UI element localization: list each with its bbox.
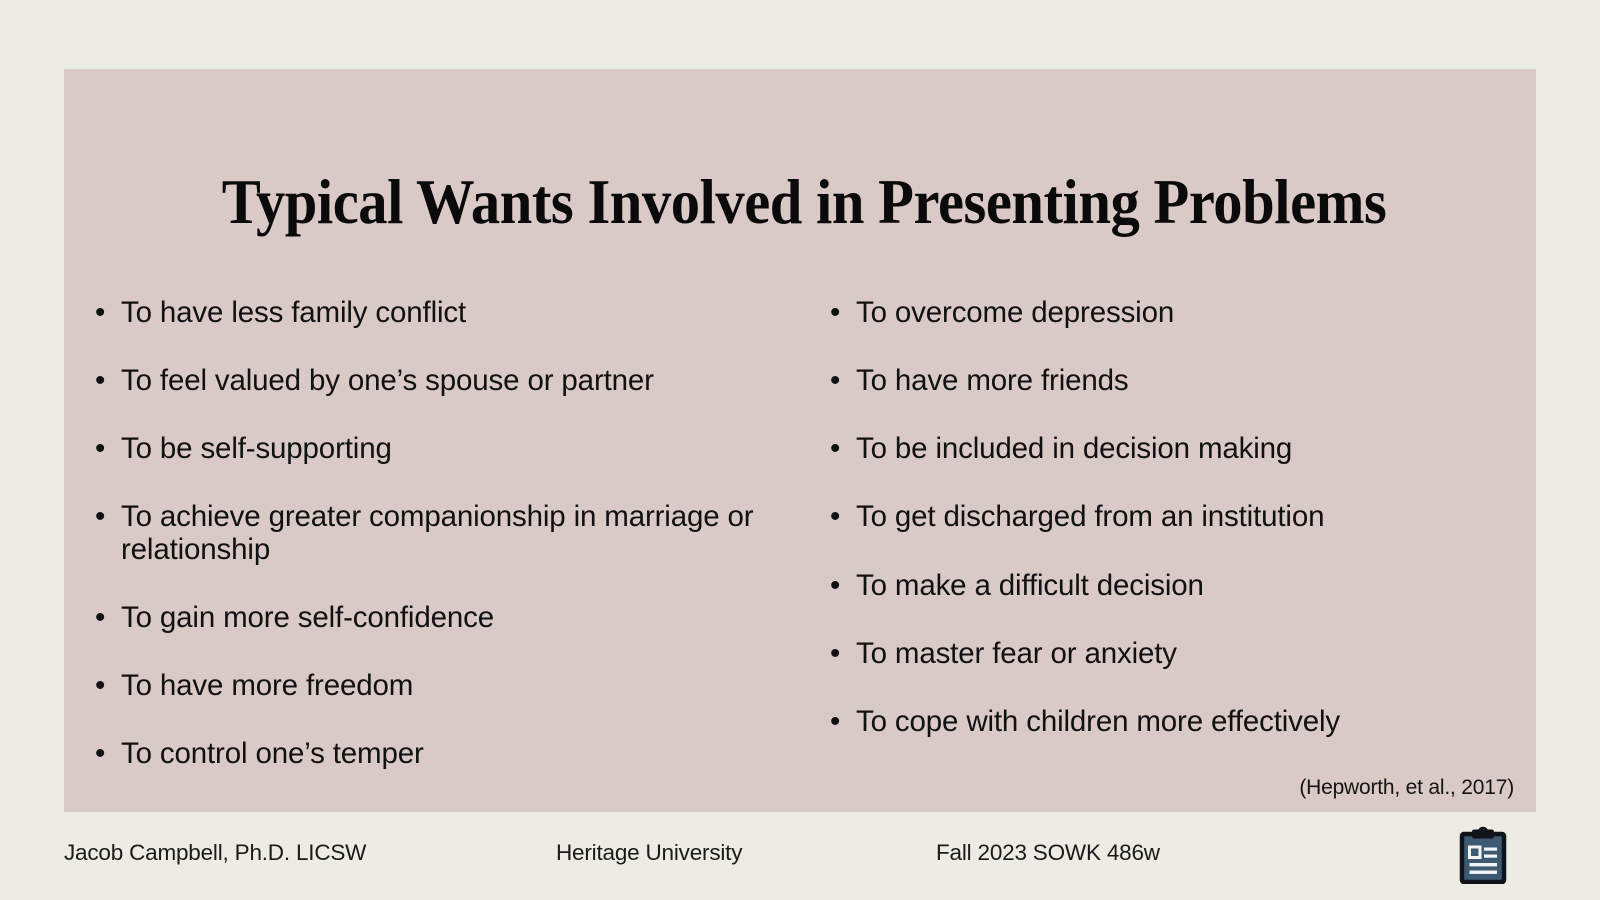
list-item-label: To have more friends [856,365,1530,397]
bullet-dot-icon: • [830,433,856,465]
footer-course: Fall 2023 SOWK 486w [936,840,1160,866]
list-item: • To have less family conflict [95,297,795,329]
list-item-label: To gain more self-confidence [121,602,795,634]
list-item: • To feel valued by one’s spouse or part… [95,365,795,397]
bullet-dot-icon: • [95,670,121,702]
list-item-label: To master fear or anxiety [856,638,1530,670]
list-item-label: To get discharged from an institution [856,501,1530,533]
list-item-label: To make a difficult decision [856,570,1530,602]
list-item-label: To be included in decision making [856,433,1530,465]
list-item: • To make a difficult decision [830,570,1530,602]
list-item-label: To have less family conflict [121,297,795,329]
list-item-label: To cope with children more effectively [856,706,1530,738]
bullet-dot-icon: • [830,706,856,738]
bullet-dot-icon: • [830,638,856,670]
list-item: • To overcome depression [830,297,1530,329]
list-item: • To achieve greater companionship in ma… [95,501,795,565]
bullet-dot-icon: • [95,501,121,533]
list-item: • To be self-supporting [95,433,795,465]
list-item-label: To overcome depression [856,297,1530,329]
bullet-dot-icon: • [95,297,121,329]
bullet-dot-icon: • [830,501,856,533]
list-item: • To cope with children more effectively [830,706,1530,738]
citation-text: (Hepworth, et al., 2017) [1299,776,1514,800]
bullet-dot-icon: • [95,365,121,397]
list-item-label: To feel valued by one’s spouse or partne… [121,365,795,397]
bullet-dot-icon: • [95,433,121,465]
bullet-dot-icon: • [830,297,856,329]
list-item-label: To be self-supporting [121,433,795,465]
bullet-dot-icon: • [95,602,121,634]
list-item: • To get discharged from an institution [830,501,1530,533]
slide-panel: Typical Wants Involved in Presenting Pro… [64,69,1536,812]
clipboard-icon [1458,826,1508,884]
page-title: Typical Wants Involved in Presenting Pro… [186,171,1423,234]
list-item-label: To control one’s temper [121,738,795,770]
list-item: • To be included in decision making [830,433,1530,465]
list-item: • To have more freedom [95,670,795,702]
bullet-column-left: • To have less family conflict • To feel… [95,297,795,806]
bullet-column-right: • To overcome depression • To have more … [830,297,1530,774]
list-item: • To have more friends [830,365,1530,397]
list-item-label: To achieve greater companionship in marr… [121,501,795,565]
list-item: • To control one’s temper [95,738,795,770]
slide-footer: Jacob Campbell, Ph.D. LICSW Heritage Uni… [0,833,1600,878]
footer-author: Jacob Campbell, Ph.D. LICSW [64,840,366,866]
list-item-label: To have more freedom [121,670,795,702]
bullet-dot-icon: • [830,570,856,602]
list-item: • To master fear or anxiety [830,638,1530,670]
bullet-dot-icon: • [830,365,856,397]
footer-university: Heritage University [556,840,742,866]
bullet-dot-icon: • [95,738,121,770]
list-item: • To gain more self-confidence [95,602,795,634]
